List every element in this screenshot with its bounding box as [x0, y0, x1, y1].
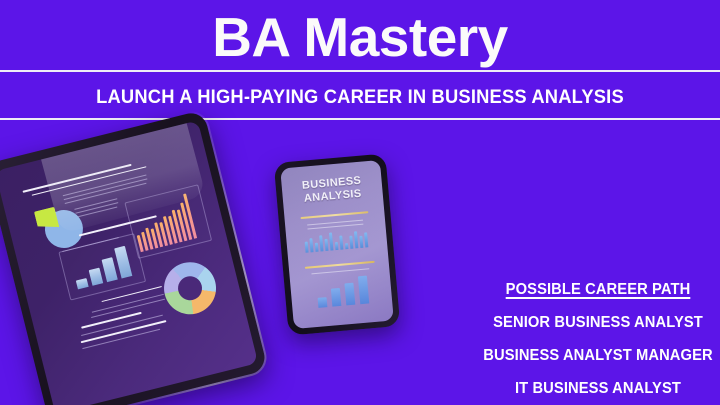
tablet-text-line — [23, 164, 132, 193]
bar-chart-icon — [354, 231, 358, 248]
tablet-text-line — [32, 166, 147, 196]
bar-chart-icon — [102, 257, 118, 282]
phone-screen-heading: BUSINESS ANALYSIS — [281, 173, 383, 208]
tablet-text-line — [92, 294, 164, 313]
tablet-illustration — [0, 110, 268, 405]
phone-text-line — [311, 268, 369, 274]
bar-chart-icon — [349, 236, 353, 249]
bar-chart-icon — [309, 238, 313, 252]
bar-chart-icon — [344, 283, 355, 306]
bar-chart-icon — [339, 236, 343, 250]
page-title: BA Mastery — [0, 4, 720, 70]
phone-spike-chart — [304, 227, 369, 253]
bar-chart-icon — [89, 268, 104, 286]
phone-accent-divider — [300, 211, 368, 219]
bar-chart-icon — [358, 276, 369, 305]
phone-frame: BUSINESS ANALYSIS — [274, 153, 401, 335]
bar-chart-icon — [315, 243, 319, 252]
bar-chart-icon — [324, 239, 328, 251]
bar-chart-icon — [318, 297, 328, 308]
career-path-item: IT BUSINESS ANALYST — [456, 380, 720, 397]
tablet-frame — [0, 110, 268, 405]
bar-chart-icon — [359, 236, 363, 248]
page-subtitle: LAUNCH A HIGH-PAYING CAREER IN BUSINESS … — [22, 82, 699, 112]
tablet-donut-chart — [159, 257, 222, 320]
career-path-heading: POSSIBLE CAREER PATH — [456, 281, 720, 298]
bar-chart-icon — [364, 232, 368, 247]
bar-chart-icon — [114, 246, 132, 279]
career-path-item: BUSINESS ANALYST MANAGER — [456, 347, 720, 364]
tablet-screen — [0, 120, 258, 405]
tablet-text-line — [81, 312, 142, 329]
bar-chart-icon — [305, 242, 309, 253]
bar-chart-icon — [335, 242, 339, 250]
phone-bar-chart — [316, 275, 370, 307]
ba-mastery-banner: BA Mastery LAUNCH A HIGH-PAYING CAREER I… — [0, 0, 720, 405]
bar-chart-icon — [329, 232, 334, 250]
tablet-text-line — [64, 178, 148, 200]
divider-top — [0, 70, 720, 72]
bar-chart-icon — [345, 243, 349, 249]
bar-chart-icon — [331, 288, 342, 307]
career-path-item: SENIOR BUSINESS ANALYST — [456, 314, 720, 331]
bar-chart-icon — [319, 235, 323, 251]
phone-screen: BUSINESS ANALYSIS — [280, 160, 394, 329]
career-path-block: POSSIBLE CAREER PATH SENIOR BUSINESS ANA… — [448, 281, 720, 397]
divider-bottom — [0, 118, 720, 120]
phone-illustration: BUSINESS ANALYSIS — [274, 153, 401, 335]
